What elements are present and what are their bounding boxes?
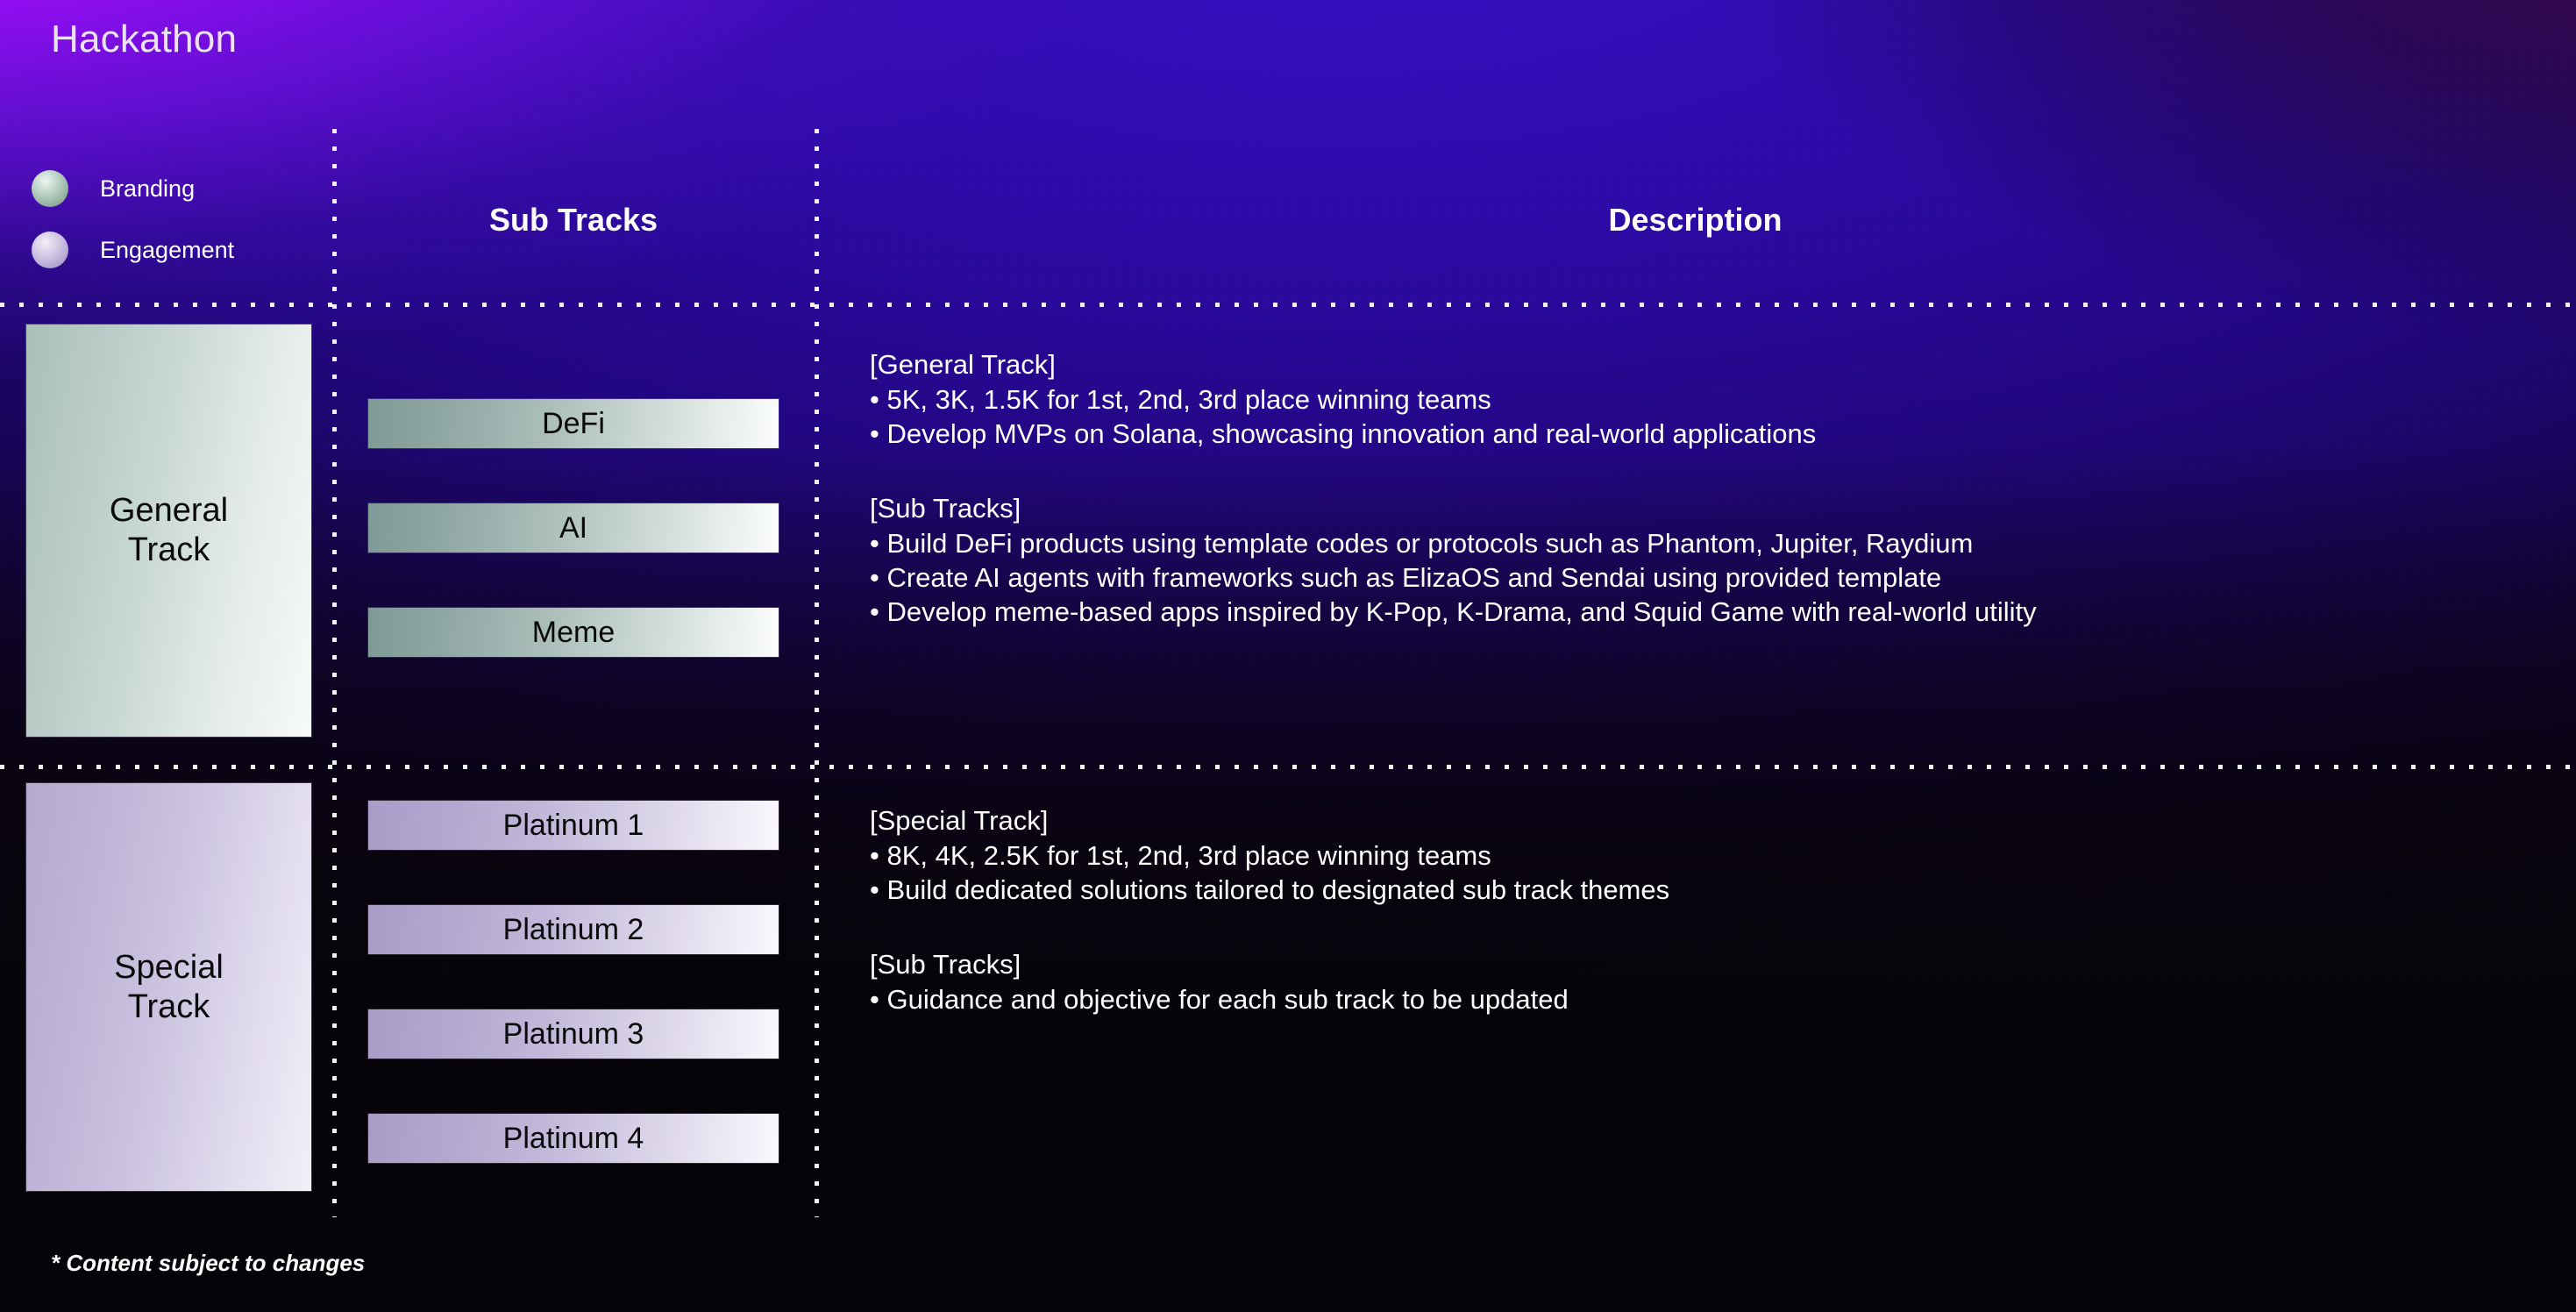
- subtrack-pill-label: Platinum 1: [503, 809, 644, 843]
- description-section-heading: [Special Track]: [870, 807, 2541, 834]
- description-bullet: • Develop MVPs on Solana, showcasing inn…: [870, 420, 2541, 447]
- description-section-heading: [Sub Tracks]: [870, 495, 2541, 522]
- column-header-description: Description: [815, 202, 2576, 239]
- track-row-divider: [0, 765, 2576, 769]
- description-bullet: • Build dedicated solutions tailored to …: [870, 876, 2541, 903]
- legend: Branding Engagement: [25, 158, 314, 281]
- track-card-special[interactable]: Special Track: [26, 783, 311, 1191]
- subtrack-pill-label: DeFi: [542, 407, 605, 441]
- subtrack-pill-label: Platinum 3: [503, 1017, 644, 1052]
- page-title: Hackathon: [51, 18, 237, 61]
- track-card-label-line2: Track: [110, 531, 228, 570]
- subtrack-pill-platinum-1[interactable]: Platinum 1: [368, 801, 779, 850]
- legend-item-label: Branding: [100, 175, 195, 203]
- legend-item-engagement: Engagement: [25, 219, 314, 281]
- subtrack-pill-label: Platinum 2: [503, 913, 644, 947]
- subtrack-pill-platinum-3[interactable]: Platinum 3: [368, 1009, 779, 1059]
- subtrack-pill-platinum-2[interactable]: Platinum 2: [368, 905, 779, 954]
- legend-item-label: Engagement: [100, 237, 234, 264]
- subtrack-pill-label: Meme: [532, 616, 615, 650]
- description-spacer: [870, 910, 2541, 951]
- description-general-track: [General Track] • 5K, 3K, 1.5K for 1st, …: [870, 351, 2541, 632]
- description-spacer: [870, 454, 2541, 495]
- sphere-bullet-lavender-icon: [32, 232, 68, 268]
- column-divider-left: [332, 129, 337, 1217]
- subtrack-pill-meme[interactable]: Meme: [368, 608, 779, 657]
- subtrack-pill-ai[interactable]: AI: [368, 503, 779, 553]
- slide-root: Hackathon Branding Engagement Sub Tracks…: [0, 0, 2576, 1312]
- subtrack-pill-defi[interactable]: DeFi: [368, 399, 779, 448]
- description-section-heading: [Sub Tracks]: [870, 951, 2541, 978]
- track-card-label: Special Track: [114, 948, 224, 1027]
- description-bullet: • 5K, 3K, 1.5K for 1st, 2nd, 3rd place w…: [870, 386, 2541, 413]
- track-card-label-line2: Track: [114, 988, 224, 1027]
- track-card-general[interactable]: General Track: [26, 324, 311, 737]
- column-header-sub-tracks: Sub Tracks: [332, 202, 815, 239]
- header-row-divider: [0, 303, 2576, 307]
- column-divider-right: [815, 129, 819, 1217]
- footnote: * Content subject to changes: [51, 1250, 365, 1277]
- subtrack-pill-label: Platinum 4: [503, 1122, 644, 1156]
- track-card-label: General Track: [110, 491, 228, 570]
- sphere-bullet-green-icon: [32, 170, 68, 207]
- description-bullet: • Develop meme-based apps inspired by K-…: [870, 598, 2541, 625]
- description-special-track: [Special Track] • 8K, 4K, 2.5K for 1st, …: [870, 807, 2541, 1020]
- description-bullet: • Create AI agents with frameworks such …: [870, 564, 2541, 591]
- description-bullet: • Build DeFi products using template cod…: [870, 530, 2541, 557]
- subtrack-pill-label: AI: [559, 511, 587, 545]
- description-bullet: • 8K, 4K, 2.5K for 1st, 2nd, 3rd place w…: [870, 842, 2541, 869]
- track-card-label-line1: Special: [114, 948, 224, 988]
- description-section-heading: [General Track]: [870, 351, 2541, 378]
- legend-item-branding: Branding: [25, 158, 314, 219]
- description-bullet: • Guidance and objective for each sub tr…: [870, 986, 2541, 1013]
- track-card-label-line1: General: [110, 491, 228, 531]
- subtrack-pill-platinum-4[interactable]: Platinum 4: [368, 1114, 779, 1163]
